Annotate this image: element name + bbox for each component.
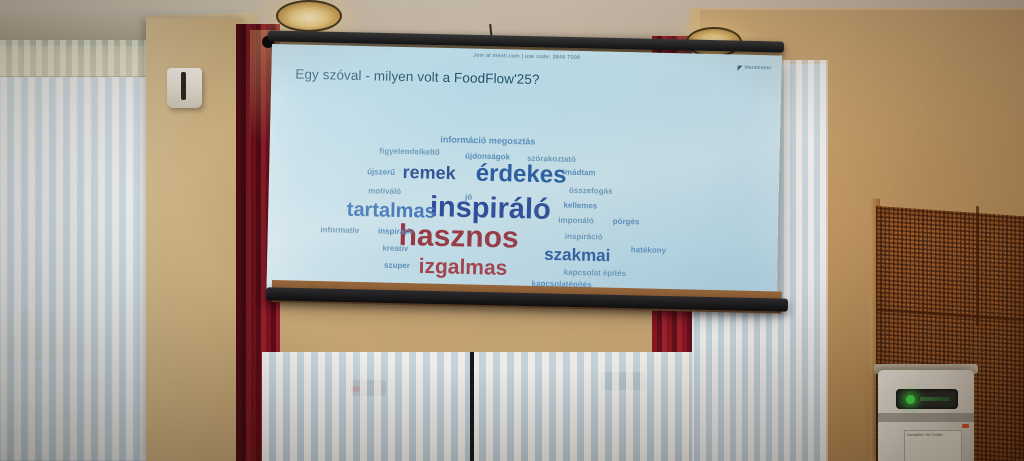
word-cloud-item: kellemes (563, 202, 597, 211)
word-cloud: hasznosinspirálóérdekesizgalmastartalmas… (267, 96, 781, 298)
word-cloud-item: kreatív (382, 245, 408, 254)
word-cloud-item: információ megosztás (440, 135, 535, 146)
word-cloud-item: szakmai (544, 246, 611, 264)
purifier-indicator-icon (962, 424, 969, 428)
display-bar (920, 397, 950, 401)
word-cloud-item: újdonságok (465, 152, 510, 161)
word-cloud-item: jó (465, 193, 472, 201)
mentimeter-brand-label: Mentimeter (744, 65, 771, 72)
purifier-label: Humidifier / Air Purifier (904, 430, 962, 461)
room-photo-scene: Humidifier / Air Purifier Join at menti.… (0, 0, 1024, 461)
word-cloud-item: inspiratív (378, 227, 414, 236)
mentimeter-logo: Mentimeter (738, 65, 772, 72)
word-cloud-item: hasznos (398, 221, 519, 254)
word-cloud-item: összefogás (569, 187, 613, 196)
mentimeter-mark-icon (738, 65, 743, 70)
word-cloud-item: remek (402, 163, 455, 182)
word-cloud-item: inspiráló (430, 193, 551, 225)
word-cloud-item: inspiráció (565, 233, 603, 242)
menti-join-text: Join at menti.com | use code: 3849 7008 (473, 53, 580, 61)
projected-slide: Join at menti.com | use code: 3849 7008 … (266, 44, 782, 308)
status-led-icon (906, 395, 915, 404)
word-cloud-item: hatékony (631, 246, 666, 255)
window-mullion (470, 352, 474, 461)
word-cloud-item: motiváló (368, 187, 401, 196)
purifier-band (878, 413, 974, 422)
word-cloud-item: imádtam (563, 169, 596, 178)
word-cloud-item: pörgés (613, 218, 640, 227)
word-cloud-item: informatív (320, 226, 359, 235)
dispenser-slot-icon (181, 72, 186, 100)
word-cloud-item: imponáló (558, 217, 594, 226)
panel-seam-vertical (976, 206, 979, 326)
word-cloud-item: szórakoztató (527, 155, 576, 164)
word-cloud-item: szuper (384, 262, 410, 271)
word-cloud-item: tartalmas (347, 200, 436, 222)
slide-title: Egy szóval - milyen volt a FoodFlow'25? (295, 67, 540, 88)
word-cloud-item: érdekes (475, 162, 566, 188)
word-cloud-item: újszerű (367, 168, 395, 177)
ceiling-light-icon (276, 0, 342, 32)
word-cloud-item: kapcsolat építés (564, 269, 626, 278)
word-cloud-item: izgalmas (418, 256, 507, 279)
lower-sheer-curtain (262, 352, 692, 461)
word-cloud-item: figyelemfelkeltő (379, 147, 440, 156)
